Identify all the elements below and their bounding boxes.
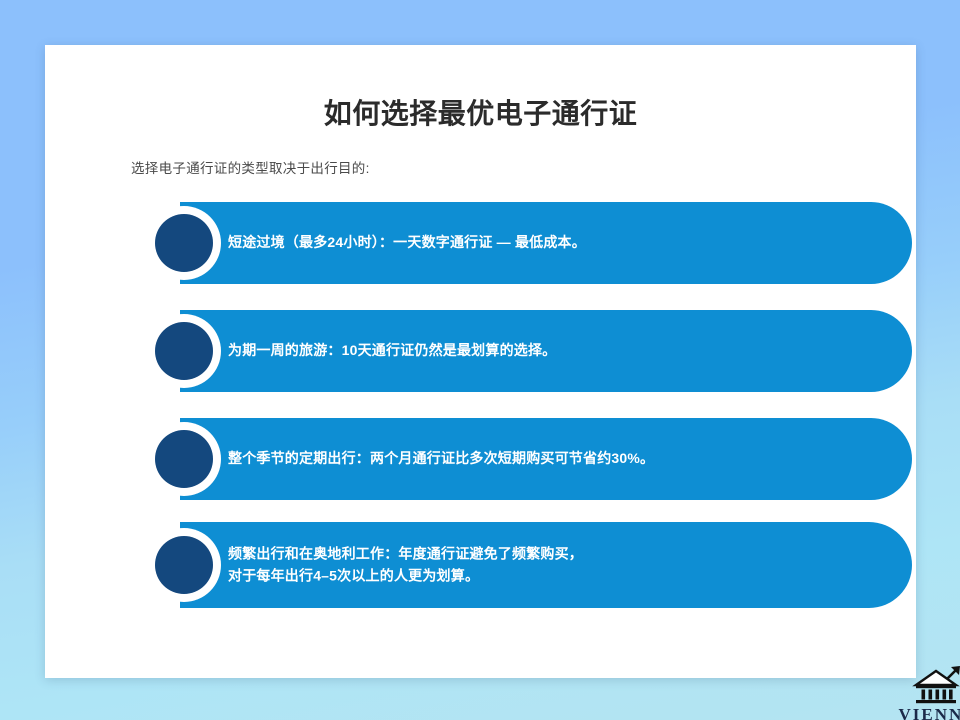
bullet-dot-icon bbox=[155, 536, 213, 594]
list-item-line-1: 整个季节的定期出行：两个月通行证比多次短期购买可节省约30%。 bbox=[228, 450, 654, 466]
list-item-line-1: 频繁出行和在奥地利工作：年度通行证避免了频繁购买， bbox=[228, 545, 583, 561]
list-item-text: 为期一周的旅游：10天通行证仍然是最划算的选择。 bbox=[228, 340, 870, 362]
bullet-dot-icon bbox=[155, 322, 213, 380]
list-item-text: 频繁出行和在奥地利工作：年度通行证避免了频繁购买， 对于每年出行4–5次以上的人… bbox=[228, 543, 870, 586]
list-item[interactable]: 整个季节的定期出行：两个月通行证比多次短期购买可节省约30%。 bbox=[100, 418, 912, 500]
bullet-dot-icon bbox=[155, 430, 213, 488]
list-item-text: 整个季节的定期出行：两个月通行证比多次短期购买可节省约30%。 bbox=[228, 448, 870, 470]
slide-card: 如何选择最优电子通行证 选择电子通行证的类型取决于出行目的: 短途过境（最多24… bbox=[45, 45, 916, 678]
logo-name: VIENNA bbox=[888, 706, 960, 720]
list-item-text: 短途过境（最多24小时）：一天数字通行证 — 最低成本。 bbox=[228, 232, 870, 254]
brand-logo: VIENNA PROPERTY INVESTMENT bbox=[888, 663, 960, 720]
list-item-line-1: 短途过境（最多24小时）：一天数字通行证 — 最低成本。 bbox=[228, 234, 586, 250]
page-title: 如何选择最优电子通行证 bbox=[45, 92, 916, 132]
bullet-dot-icon bbox=[155, 214, 213, 272]
subtitle-text: 选择电子通行证的类型取决于出行目的: bbox=[131, 157, 370, 177]
bank-building-growth-arrow-icon bbox=[910, 663, 960, 705]
list-item[interactable]: 频繁出行和在奥地利工作：年度通行证避免了频繁购买， 对于每年出行4–5次以上的人… bbox=[100, 522, 912, 608]
list-item-line-1: 为期一周的旅游：10天通行证仍然是最划算的选择。 bbox=[228, 342, 556, 358]
list-item[interactable]: 为期一周的旅游：10天通行证仍然是最划算的选择。 bbox=[100, 310, 912, 392]
list-item-line-2: 对于每年出行4–5次以上的人更为划算。 bbox=[228, 565, 870, 587]
slide-canvas: 如何选择最优电子通行证 选择电子通行证的类型取决于出行目的: 短途过境（最多24… bbox=[0, 0, 960, 720]
list-item[interactable]: 短途过境（最多24小时）：一天数字通行证 — 最低成本。 bbox=[100, 202, 912, 284]
